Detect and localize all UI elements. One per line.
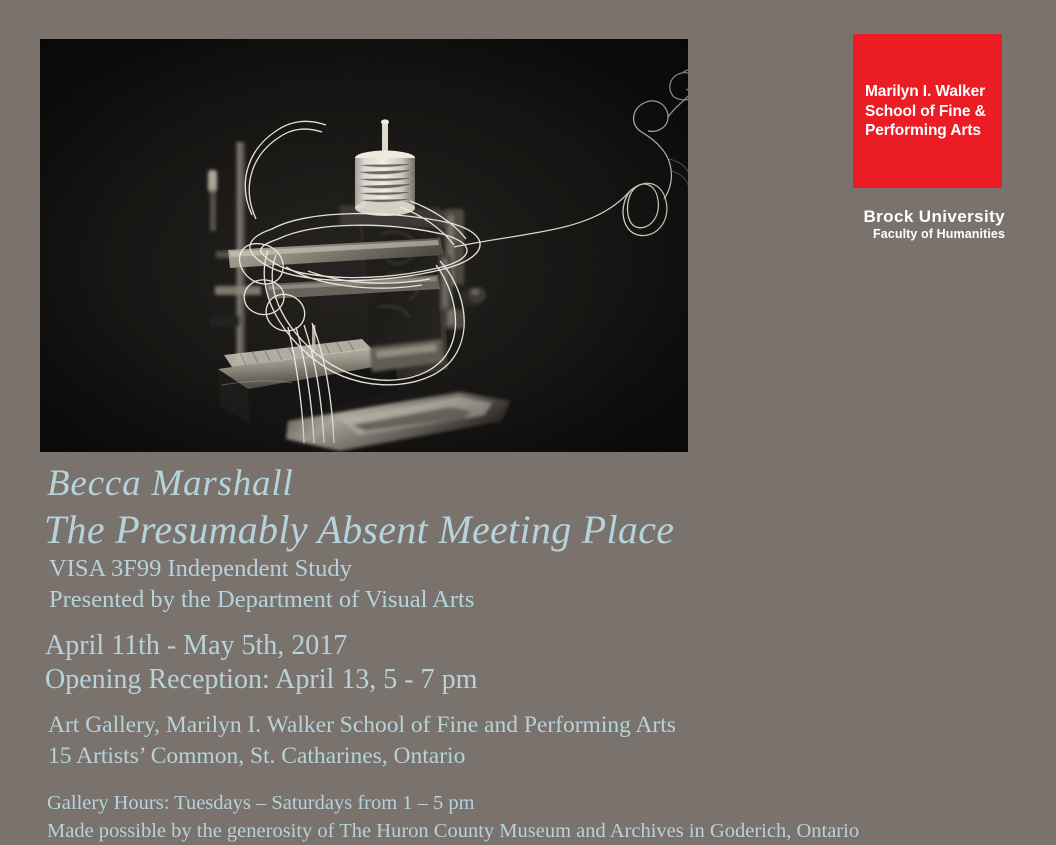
brock-wordmark: Brock University Faculty of Humanities bbox=[853, 207, 1005, 242]
venue-name: Art Gallery, Marilyn I. Walker School of… bbox=[48, 710, 1004, 741]
exhibition-photograph bbox=[40, 39, 688, 452]
exhibition-details: Becca Marshall The Presumably Absent Mee… bbox=[44, 462, 1004, 845]
miwsfpa-line-3: Performing Arts bbox=[865, 121, 992, 141]
course-label: VISA 3F99 Independent Study bbox=[49, 553, 1004, 584]
footer-group: Gallery Hours: Tuesdays – Saturdays from… bbox=[47, 789, 1004, 845]
miwsfpa-red-block: Marilyn I. Walker School of Fine & Perfo… bbox=[853, 34, 1002, 188]
exhibition-title: The Presumably Absent Meeting Place bbox=[44, 506, 1004, 553]
brock-university-label: Brock University bbox=[853, 207, 1005, 226]
venue-group: Art Gallery, Marilyn I. Walker School of… bbox=[48, 710, 1004, 772]
brock-miwsfpa-logo: Marilyn I. Walker School of Fine & Perfo… bbox=[853, 34, 1002, 242]
faculty-of-humanities-label: Faculty of Humanities bbox=[853, 226, 1005, 242]
exhibition-date-range: April 11th - May 5th, 2017 bbox=[45, 629, 1004, 663]
dates-group: April 11th - May 5th, 2017 Opening Recep… bbox=[45, 629, 1004, 697]
presented-by-label: Presented by the Department of Visual Ar… bbox=[49, 584, 1004, 616]
miwsfpa-line-1: Marilyn I. Walker bbox=[865, 82, 992, 102]
exhibition-poster: Marilyn I. Walker School of Fine & Perfo… bbox=[0, 0, 1056, 845]
sewing-machine-photo-illustration bbox=[40, 39, 688, 452]
miwsfpa-school-name: Marilyn I. Walker School of Fine & Perfo… bbox=[865, 82, 992, 141]
miwsfpa-line-2: School of Fine & bbox=[865, 102, 992, 122]
sponsorship-credit: Made possible by the generosity of The H… bbox=[47, 817, 1004, 845]
artist-name: Becca Marshall bbox=[47, 462, 1004, 506]
gallery-hours: Gallery Hours: Tuesdays – Saturdays from… bbox=[47, 789, 1004, 817]
opening-reception: Opening Reception: April 13, 5 - 7 pm bbox=[45, 663, 1004, 697]
venue-address: 15 Artists’ Common, St. Catharines, Onta… bbox=[48, 741, 1004, 772]
